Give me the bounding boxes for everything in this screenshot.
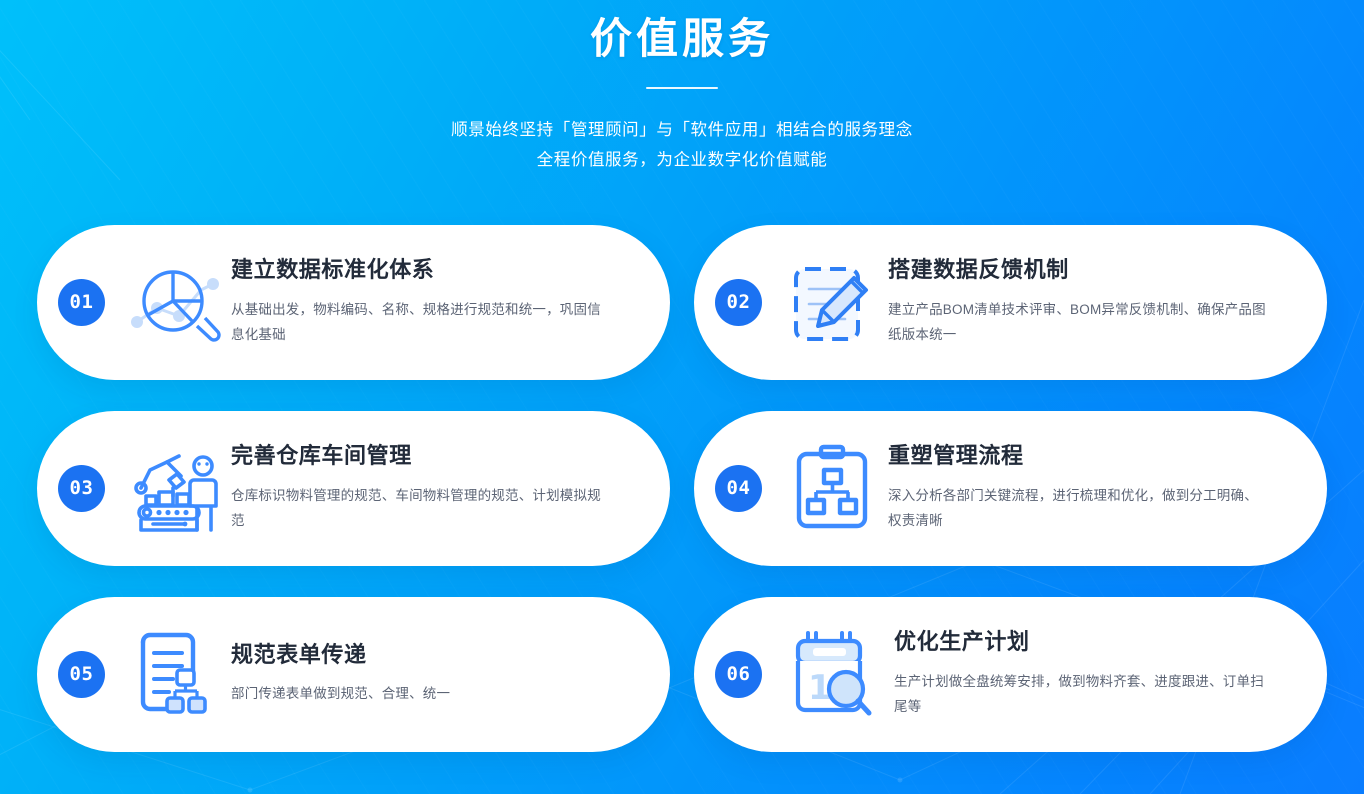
card-number-badge: 03 — [58, 465, 105, 512]
title-divider — [646, 87, 718, 89]
value-service-page: 价值服务 顺景始终坚持「管理顾问」与「软件应用」相结合的服务理念 全程价值服务，… — [0, 0, 1364, 794]
card-description: 建立产品BOM清单技术评审、BOM异常反馈机制、确保产品图纸版本统一 — [888, 297, 1268, 347]
card-title: 完善仓库车间管理 — [231, 443, 636, 469]
card-description: 深入分析各部门关键流程，进行梳理和优化，做到分工明确、权责清晰 — [888, 483, 1268, 533]
card-title: 建立数据标准化体系 — [231, 257, 636, 283]
page-header: 价值服务 顺景始终坚持「管理顾问」与「软件应用」相结合的服务理念 全程价值服务，… — [0, 0, 1364, 175]
card-number-badge: 04 — [715, 465, 762, 512]
document-pencil-icon — [776, 250, 888, 354]
subtitle-line-2: 全程价值服务，为企业数字化价值赋能 — [0, 145, 1364, 175]
card-title: 优化生产计划 — [894, 629, 1293, 655]
card-text-block: 优化生产计划 生产计划做全盘统筹安排，做到物料齐套、进度跟进、订单扫尾等 — [888, 629, 1327, 718]
card-description: 部门传递表单做到规范、合理、统一 — [231, 681, 611, 706]
card-title: 搭建数据反馈机制 — [888, 257, 1293, 283]
page-title: 价值服务 — [0, 12, 1364, 67]
card-description: 生产计划做全盘统筹安排，做到物料齐套、进度跟进、订单扫尾等 — [894, 669, 1274, 719]
pie-chart-magnifier-icon — [119, 250, 231, 354]
card-title: 重塑管理流程 — [888, 443, 1293, 469]
service-card-grid: 01 — [37, 225, 1327, 752]
card-description: 从基础出发，物料编码、名称、规格进行规范和统一，巩固信息化基础 — [231, 297, 611, 347]
clipboard-org-chart-icon — [776, 436, 888, 540]
subtitle-line-1: 顺景始终坚持「管理顾问」与「软件应用」相结合的服务理念 — [0, 115, 1364, 145]
card-text-block: 规范表单传递 部门传递表单做到规范、合理、统一 — [231, 642, 670, 706]
calendar-magnifier-icon: 11 — [776, 622, 888, 726]
document-flowchart-icon — [119, 622, 231, 726]
card-text-block: 完善仓库车间管理 仓库标识物料管理的规范、车间物料管理的规范、计划模拟规范 — [231, 443, 670, 532]
card-text-block: 搭建数据反馈机制 建立产品BOM清单技术评审、BOM异常反馈机制、确保产品图纸版… — [888, 257, 1327, 346]
service-card-01[interactable]: 01 — [37, 225, 670, 380]
service-card-04[interactable]: 04 重塑管理流程 — [694, 411, 1327, 566]
service-card-05[interactable]: 05 — [37, 597, 670, 752]
factory-worker-conveyor-icon — [119, 436, 231, 540]
service-card-06[interactable]: 06 11 优化生产计划 生产计划做全盘统筹安排，做到物料齐套、 — [694, 597, 1327, 752]
card-number-badge: 05 — [58, 651, 105, 698]
page-subtitle: 顺景始终坚持「管理顾问」与「软件应用」相结合的服务理念 全程价值服务，为企业数字… — [0, 115, 1364, 175]
card-title: 规范表单传递 — [231, 642, 636, 668]
card-number-badge: 06 — [715, 651, 762, 698]
card-number-badge: 01 — [58, 279, 105, 326]
service-card-03[interactable]: 03 — [37, 411, 670, 566]
service-card-02[interactable]: 02 搭建数据反馈机制 建立产品BOM清单技术评审、BOM异常反馈机制、确保产品… — [694, 225, 1327, 380]
card-description: 仓库标识物料管理的规范、车间物料管理的规范、计划模拟规范 — [231, 483, 611, 533]
card-number-badge: 02 — [715, 279, 762, 326]
card-text-block: 建立数据标准化体系 从基础出发，物料编码、名称、规格进行规范和统一，巩固信息化基… — [231, 257, 670, 346]
card-text-block: 重塑管理流程 深入分析各部门关键流程，进行梳理和优化，做到分工明确、权责清晰 — [888, 443, 1327, 532]
